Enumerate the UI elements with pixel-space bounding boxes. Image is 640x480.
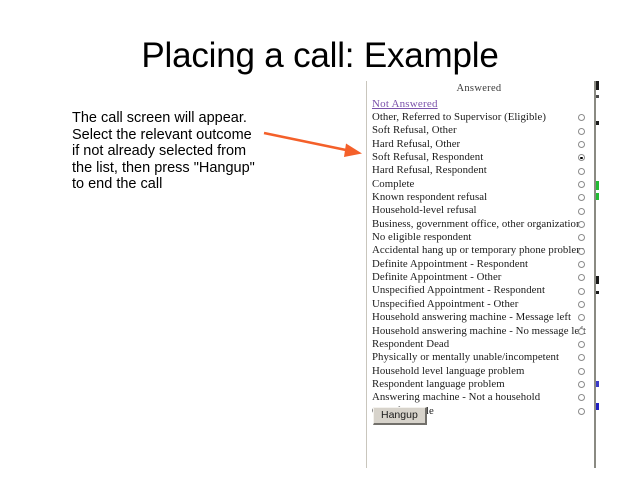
scrollbar-mark [596,121,599,125]
outcome-row[interactable]: Physically or mentally unable/incompeten… [367,351,593,364]
outcome-row[interactable]: Answering machine - Not a household [367,391,593,404]
outcome-label: Other, Referred to Supervisor (Eligible) [372,111,546,124]
caption-line: the list, then press "Hangup" [72,160,277,177]
outcome-label: Unspecified Appointment - Respondent [372,284,545,297]
outcome-radio-button[interactable] [578,381,585,388]
outcome-row[interactable]: Business, government office, other organ… [367,218,593,231]
caption-line: Select the relevant outcome [72,127,277,144]
outcome-row[interactable]: Accidental hang up or temporary phone pr… [367,244,593,257]
scrollbar-mark [596,276,599,284]
outcome-radio-button[interactable] [578,354,585,361]
page-title: Placing a call: Example [0,36,640,76]
answered-column-header: Answered [367,83,591,94]
outcome-radio-list: Other, Referred to Supervisor (Eligible)… [367,111,593,418]
outcome-label: Business, government office, other organ… [372,218,581,231]
outcome-row[interactable]: Other, Referred to Supervisor (Eligible) [367,111,593,124]
outcome-label: Physically or mentally unable/incompeten… [372,351,559,364]
outcome-radio-button[interactable] [578,288,585,295]
outcome-row[interactable]: Hard Refusal, Other [367,138,593,151]
outcome-row[interactable]: Soft Refusal, Respondent [367,151,593,164]
scrollbar-mark [596,291,599,294]
outcome-row[interactable]: Household answering machine - Message le… [367,311,593,324]
outcome-label: Soft Refusal, Respondent [372,151,483,164]
outcome-radio-button[interactable] [578,234,585,241]
outcome-radio-button[interactable] [578,408,585,415]
outcome-label: Respondent language problem [372,378,505,391]
caption-line: if not already selected from [72,143,277,160]
outcome-radio-button[interactable] [578,394,585,401]
outcome-radio-button[interactable] [578,141,585,148]
caption-line: to end the call [72,176,277,193]
outcome-label: Accidental hang up or temporary phone pr… [372,244,585,257]
outcome-radio-button[interactable] [578,128,585,135]
scrollbar[interactable] [596,81,602,468]
scrollbar-mark [596,181,599,190]
outcome-label: Household level language problem [372,365,524,378]
outcome-row[interactable]: Respondent language problem [367,378,593,391]
outcome-row[interactable]: Household-level refusal [367,204,593,217]
outcome-row[interactable]: Hard Refusal, Respondent [367,164,593,177]
outcome-radio-button[interactable] [578,221,585,228]
outcome-radio-button[interactable] [578,114,585,121]
outcome-label: Complete [372,178,414,191]
outcome-radio-button[interactable] [578,181,585,188]
outcome-row[interactable]: Definite Appointment - Respondent [367,258,593,271]
outcome-label: Answering machine - Not a household [372,391,540,404]
outcome-row[interactable]: Definite Appointment - Other [367,271,593,284]
outcome-label: Unspecified Appointment - Other [372,298,518,311]
outcome-label: Household answering machine - No message… [372,325,586,338]
caption-line: The call screen will appear. [72,110,277,127]
outcome-radio-button[interactable] [578,328,585,335]
outcome-row[interactable]: Unspecified Appointment - Other [367,298,593,311]
outcome-row[interactable]: Respondent Dead [367,338,593,351]
not-answered-link[interactable]: Not Answered [372,98,438,110]
outcome-label: Soft Refusal, Other [372,124,457,137]
outcome-radio-button[interactable] [578,261,585,268]
outcome-row[interactable]: Complete [367,178,593,191]
outcome-row[interactable]: Unspecified Appointment - Respondent [367,284,593,297]
outcome-label: Definite Appointment - Respondent [372,258,528,271]
outcome-label: Household answering machine - Message le… [372,311,571,324]
outcome-label: Household-level refusal [372,204,477,217]
outcome-radio-button[interactable] [578,248,585,255]
outcome-radio-button[interactable] [578,274,585,281]
scrollbar-mark [596,81,599,90]
scrollbar-mark [596,403,599,410]
outcome-radio-button[interactable] [578,194,585,201]
outcome-row[interactable]: Household answering machine - No message… [367,325,593,338]
outcome-label: No eligible respondent [372,231,471,244]
scrollbar-mark [596,95,599,98]
scrollbar-mark [596,193,599,200]
outcome-radio-button[interactable] [578,314,585,321]
outcome-radio-button[interactable] [578,301,585,308]
outcome-row[interactable]: No eligible respondent [367,231,593,244]
outcome-label: Hard Refusal, Respondent [372,164,487,177]
outcome-label: Definite Appointment - Other [372,271,501,284]
arrow-pointer-icon [262,124,367,164]
caption-text-block: The call screen will appear. Select the … [72,110,277,193]
outcome-label: Hard Refusal, Other [372,138,460,151]
outcome-row[interactable]: Known respondent refusal [367,191,593,204]
outcome-radio-button[interactable] [578,154,585,161]
outcome-radio-button[interactable] [578,341,585,348]
outcome-row[interactable]: Soft Refusal, Other [367,124,593,137]
call-screen-panel: Answered Not Answered Other, Referred to… [366,81,596,468]
outcome-row[interactable]: Household level language problem [367,365,593,378]
outcome-radio-button[interactable] [578,368,585,375]
outcome-label: Known respondent refusal [372,191,487,204]
outcome-radio-button[interactable] [578,208,585,215]
outcome-label: Respondent Dead [372,338,449,351]
outcome-radio-button[interactable] [578,168,585,175]
hangup-button[interactable]: Hangup [373,407,427,425]
scrollbar-mark [596,381,599,387]
